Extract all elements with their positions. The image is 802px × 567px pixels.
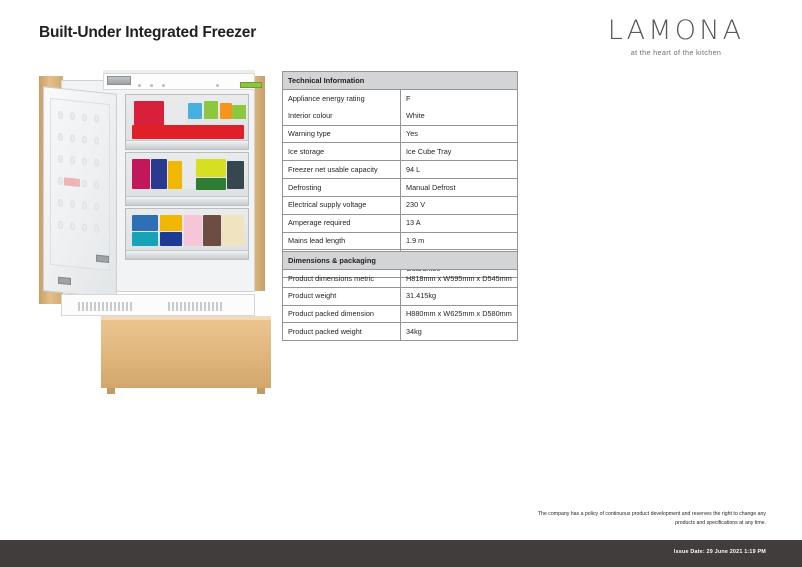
brand-tagline: at the heart of the kitchen (586, 48, 766, 57)
row-label: Interior colour (283, 107, 401, 125)
door-dimple-pattern (56, 110, 102, 235)
vent-grille-icon (168, 302, 224, 311)
table-row: Electrical supply voltage 230 V (283, 196, 518, 214)
row-label: Ice storage (283, 143, 401, 161)
row-label: Product weight (283, 287, 401, 305)
table-row: Appliance energy rating F (283, 90, 518, 108)
row-value: H818mm x W595mm x D545mm (401, 270, 518, 288)
table-header-row: Dimensions & packaging (283, 252, 518, 270)
issue-date: Issue Date: 29 June 2021 1:19 PM (674, 549, 766, 555)
row-label: Amperage required (283, 214, 401, 232)
control-dot-icon (162, 84, 165, 87)
technical-information-table: Technical Information Appliance energy r… (282, 71, 518, 278)
control-dot-icon (150, 84, 153, 87)
row-label: Product packed weight (283, 323, 401, 341)
table-row: Freezer net usable capacity 94 L (283, 161, 518, 179)
table-row: Warning type Yes (283, 125, 518, 143)
dimensions-packaging-table: Dimensions & packaging Product dimension… (282, 251, 518, 341)
row-value: Manual Defrost (401, 179, 518, 197)
table-header-row: Technical Information (283, 72, 518, 90)
row-value: 31.415kg (401, 287, 518, 305)
dimensions-packaging-heading: Dimensions & packaging (283, 252, 518, 270)
freezer-drawer-bottom (125, 208, 249, 260)
cabinet-plinth (101, 316, 271, 388)
table-row: Product weight 31.415kg (283, 287, 518, 305)
table-row: Amperage required 13 A (283, 214, 518, 232)
freezer-drawer-middle (125, 152, 249, 206)
row-label: Product dimensions metric (283, 270, 401, 288)
door-label-icon (64, 177, 80, 187)
row-label: Freezer net usable capacity (283, 161, 401, 179)
page-title: Built-Under Integrated Freezer (39, 24, 256, 42)
table-row: Mains lead length 1.9 m (283, 232, 518, 250)
row-value: 34kg (401, 323, 518, 341)
row-value: F (401, 90, 518, 108)
brand-name: LAMONA (586, 17, 766, 44)
row-value: H880mm x W625mm x D580mm (401, 305, 518, 323)
row-label: Defrosting (283, 179, 401, 197)
table-row: Interior colour White (283, 107, 518, 125)
row-value: 13 A (401, 214, 518, 232)
table-row: Product packed dimension H880mm x W625mm… (283, 305, 518, 323)
row-value: White (401, 107, 518, 125)
table-row: Ice storage Ice Cube Tray (283, 143, 518, 161)
vent-grille-icon (78, 302, 134, 311)
table-row: Defrosting Manual Defrost (283, 179, 518, 197)
table-row: Product dimensions metric H818mm x W595m… (283, 270, 518, 288)
row-label: Product packed dimension (283, 305, 401, 323)
disclaimer-text: The company has a policy of continuous p… (534, 510, 766, 527)
row-value: Ice Cube Tray (401, 143, 518, 161)
product-image (39, 70, 271, 323)
control-dot-icon (216, 84, 219, 87)
temperature-display-icon (240, 82, 262, 88)
footer-bar: Issue Date: 29 June 2021 1:19 PM (0, 540, 802, 567)
row-value: 1.9 m (401, 232, 518, 250)
row-label: Electrical supply voltage (283, 196, 401, 214)
technical-information-heading: Technical Information (283, 72, 518, 90)
row-label: Warning type (283, 125, 401, 143)
row-label: Appliance energy rating (283, 90, 401, 108)
door-latch-icon (58, 277, 71, 285)
ventilation-strip (61, 294, 255, 316)
brand-logo: LAMONA at the heart of the kitchen (586, 17, 766, 57)
door-latch-icon (96, 255, 109, 263)
freezer-drawer-top (125, 94, 249, 150)
control-dot-icon (138, 84, 141, 87)
row-value: Yes (401, 125, 518, 143)
row-value: 230 V (401, 196, 518, 214)
spec-sheet-page: Built-Under Integrated Freezer LAMONA at… (0, 0, 802, 567)
door-hinge-icon (107, 76, 131, 85)
row-value: 94 L (401, 161, 518, 179)
row-label: Mains lead length (283, 232, 401, 250)
freezer-door (43, 86, 117, 299)
table-row: Product packed weight 34kg (283, 323, 518, 341)
